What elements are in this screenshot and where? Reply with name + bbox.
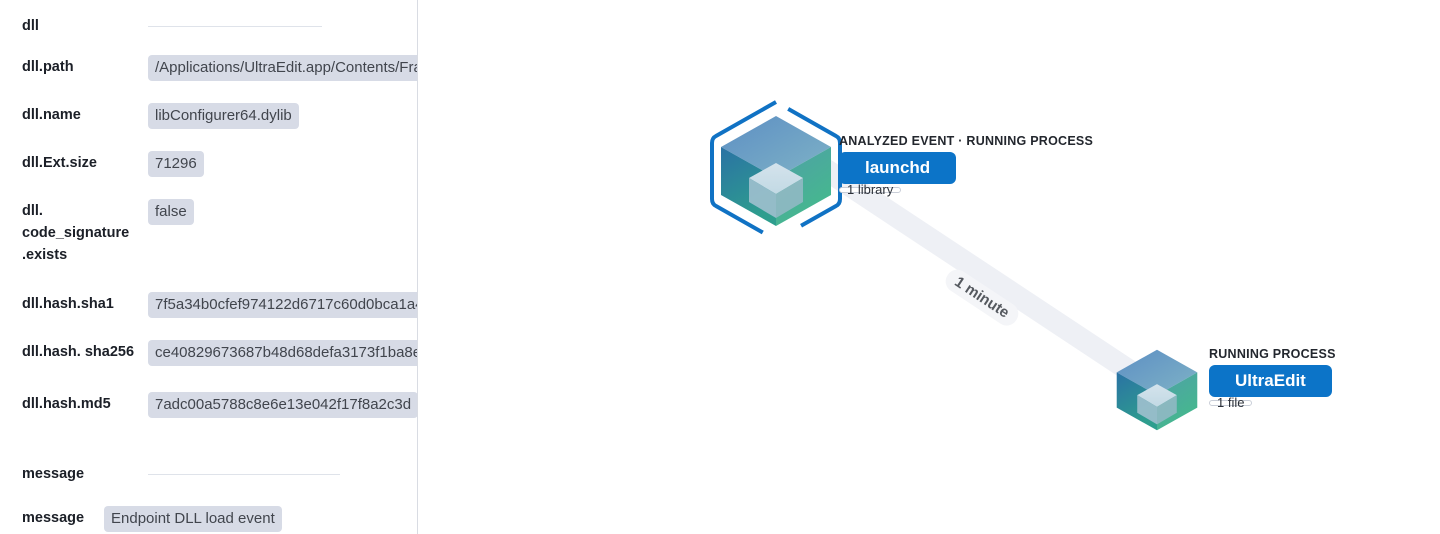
field-value-container: libConfigurer64.dylib	[148, 103, 417, 129]
field-row-dll-hash-sha256: dll.hash. sha256 ce40829673687b48d68defa…	[0, 340, 417, 366]
cube-icon	[1105, 338, 1209, 442]
field-value-container: /Applications/UltraEdit.app/Contents/Fra…	[148, 55, 417, 81]
field-value-container: 71296	[148, 151, 417, 177]
field-value-chip[interactable]: 71296	[148, 151, 204, 177]
process-graph-canvas[interactable]: 1 minute	[419, 0, 1440, 534]
node-count-badge[interactable]: 1 library	[839, 187, 901, 193]
field-label: dll.hash. sha256	[22, 340, 148, 363]
field-label: dll. code_signature .exists	[22, 199, 148, 266]
node-label-group: ANALYZED EVENT · RUNNING PROCESS launchd…	[839, 134, 1093, 193]
field-label: message	[22, 506, 104, 529]
field-label: dll.hash.sha1	[22, 292, 148, 315]
field-label: dll.name	[22, 103, 148, 126]
field-value-chip[interactable]: ce40829673687b48d68defa3173f1ba8e4d1c2bf…	[148, 340, 417, 366]
node-label-group: RUNNING PROCESS UltraEdit 1 file	[1209, 347, 1336, 406]
field-row-dll-code-signature-exists: dll. code_signature .exists false	[0, 199, 417, 266]
field-value-chip[interactable]: false	[148, 199, 194, 225]
field-value-container: false	[148, 199, 417, 225]
event-details-panel[interactable]: dll dll.path /Applications/UltraEdit.app…	[0, 0, 418, 534]
section-divider	[148, 474, 340, 475]
cube-icon	[705, 100, 847, 242]
field-row-message: message Endpoint DLL load event	[0, 506, 417, 532]
section-header-dll: dll	[0, 18, 417, 34]
node-kicker-label: RUNNING PROCESS	[1209, 347, 1336, 361]
section-header-label: dll	[22, 18, 148, 34]
node-kicker-label: ANALYZED EVENT · RUNNING PROCESS	[839, 134, 1093, 148]
field-row-dll-path: dll.path /Applications/UltraEdit.app/Con…	[0, 55, 417, 81]
field-value-chip[interactable]: 7adc00a5788c8e6e13e042f17f8a2c3d	[148, 392, 417, 418]
field-value-chip[interactable]: /Applications/UltraEdit.app/Contents/Fra…	[148, 55, 417, 81]
field-row-dll-hash-md5: dll.hash.md5 7adc00a5788c8e6e13e042f17f8…	[0, 392, 417, 418]
field-value-chip[interactable]: 7f5a34b0cfef974122d6717c60d0bca1a4c3a3d4	[148, 292, 417, 318]
field-value-chip[interactable]: Endpoint DLL load event	[104, 506, 282, 532]
field-value-container: Endpoint DLL load event	[104, 506, 417, 532]
field-value-container: 7adc00a5788c8e6e13e042f17f8a2c3d	[148, 392, 417, 418]
field-row-dll-name: dll.name libConfigurer64.dylib	[0, 103, 417, 129]
field-row-dll-hash-sha1: dll.hash.sha1 7f5a34b0cfef974122d6717c60…	[0, 292, 417, 318]
section-divider	[148, 26, 322, 27]
node-count-badge[interactable]: 1 file	[1209, 400, 1252, 406]
section-header-label: message	[22, 466, 148, 482]
field-value-container: 7f5a34b0cfef974122d6717c60d0bca1a4c3a3d4	[148, 292, 417, 318]
field-label: dll.Ext.size	[22, 151, 148, 174]
node-title-pill[interactable]: launchd	[839, 152, 956, 184]
section-header-message: message	[0, 466, 417, 482]
field-value-container: ce40829673687b48d68defa3173f1ba8e4d1c2bf…	[148, 340, 417, 366]
node-title-pill[interactable]: UltraEdit	[1209, 365, 1332, 397]
field-label: dll.hash.md5	[22, 392, 148, 415]
field-label: dll.path	[22, 55, 148, 78]
field-value-chip[interactable]: libConfigurer64.dylib	[148, 103, 299, 129]
field-row-dll-ext-size: dll.Ext.size 71296	[0, 151, 417, 177]
